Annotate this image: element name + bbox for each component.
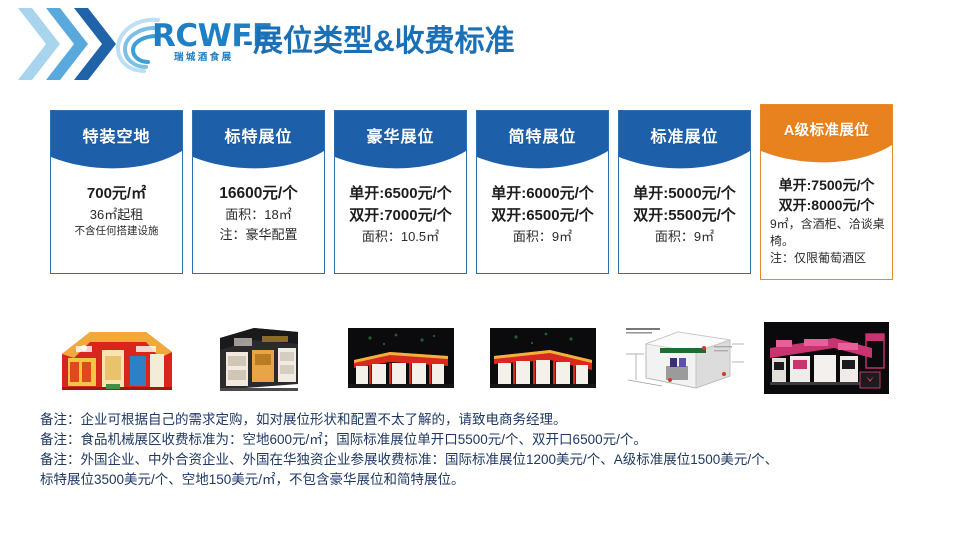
card-body: 16600元/个 面积：18㎡ 注：豪华配置	[193, 173, 324, 244]
page-title: -展位类型&收费标准	[243, 24, 515, 60]
card-body: 单开:6500元/个 双开:7000元/个 面积：10.5㎡	[335, 173, 466, 246]
pricing-card-grade-a-standard[interactable]: A级标准展位 单开:7500元/个 双开:8000元/个 9㎡，含酒柜、洽谈桌椅…	[760, 104, 893, 280]
card-price: 16600元/个	[198, 183, 319, 205]
card-title: 特装空地	[51, 123, 182, 147]
booth-photo-render-wide-right	[476, 318, 609, 398]
pricing-card-row: 特装空地 700元/㎡ 36㎡起租 不含任何搭建设施 标特展位 16600元/个…	[0, 104, 960, 284]
card-price-single: 单开:7500元/个	[766, 175, 887, 195]
brand-logo-chinese: 瑞城酒食展	[174, 53, 234, 63]
card-price-single: 单开:6500元/个	[340, 183, 461, 205]
footnote-line-2: 备注：食品机械展区收费标准为：空地600元/㎡；国际标准展位单开口5500元/个…	[40, 430, 930, 450]
card-line-2: 面积：18㎡	[198, 205, 319, 225]
card-price-single: 单开:6000元/个	[482, 183, 603, 205]
card-title: 简特展位	[477, 123, 608, 147]
card-body: 700元/㎡ 36㎡起租 不含任何搭建设施	[51, 173, 182, 240]
pricing-card-special-space[interactable]: 特装空地 700元/㎡ 36㎡起租 不含任何搭建设施	[50, 110, 183, 274]
footnote-line-3: 备注：外国企业、中外合资企业、外国在华独资企业参展收费标准：国际标准展位1200…	[40, 450, 930, 470]
booth-photo-dark-standard	[192, 318, 325, 398]
card-header: 豪华展位	[335, 111, 466, 173]
booth-photo-row	[0, 318, 960, 402]
pricing-card-simple-special[interactable]: 简特展位 单开:6000元/个 双开:6500元/个 面积：9㎡	[476, 110, 609, 274]
card-line-3: 注：仅限葡萄酒区	[766, 250, 887, 267]
card-line-2: 面积：9㎡	[624, 227, 745, 247]
card-body: 单开:6000元/个 双开:6500元/个 面积：9㎡	[477, 173, 608, 246]
card-line-3: 不含任何搭建设施	[56, 224, 177, 240]
footnote-line-4: 标特展位3500美元/个、空地150美元/㎡，不包含豪华展位和简特展位。	[40, 470, 930, 490]
card-line-2: 面积：9㎡	[482, 227, 603, 247]
footnote-block: 备注：企业可根据自己的需求定购，如对展位形状和配置不太了解的，请致电商务经理。 …	[40, 410, 930, 490]
card-title: A级标准展位	[761, 119, 892, 140]
card-line-2: 36㎡起租	[56, 205, 177, 225]
card-title: 豪华展位	[335, 123, 466, 147]
card-line-2: 9㎡，含酒柜、洽谈桌椅。	[766, 216, 887, 251]
card-price-double: 双开:7000元/个	[340, 205, 461, 227]
card-body: 单开:5000元/个 双开:5500元/个 面积：9㎡	[619, 173, 750, 246]
card-line-2: 面积：10.5㎡	[340, 227, 461, 247]
card-price: 700元/㎡	[56, 183, 177, 205]
card-body: 单开:7500元/个 双开:8000元/个 9㎡，含酒柜、洽谈桌椅。 注：仅限葡…	[761, 167, 892, 268]
booth-photo-render-wide-left	[334, 318, 467, 398]
pricing-card-standard[interactable]: 标准展位 单开:5000元/个 双开:5500元/个 面积：9㎡	[618, 110, 751, 274]
footnote-line-1: 备注：企业可根据自己的需求定购，如对展位形状和配置不太了解的，请致电商务经理。	[40, 410, 930, 430]
brand-logo: RCWFE 瑞城酒食展	[112, 8, 252, 80]
booth-photo-red-pavilion	[50, 318, 183, 398]
card-header: 特装空地	[51, 111, 182, 173]
booth-photo-magenta-standard	[760, 318, 893, 398]
card-price-single: 单开:5000元/个	[624, 183, 745, 205]
card-line-3: 注：豪华配置	[198, 225, 319, 245]
card-header: A级标准展位	[761, 105, 892, 167]
page-header: RCWFE 瑞城酒食展 -展位类型&收费标准	[0, 0, 960, 92]
card-price-double: 双开:5500元/个	[624, 205, 745, 227]
pricing-card-deluxe[interactable]: 豪华展位 单开:6500元/个 双开:7000元/个 面积：10.5㎡	[334, 110, 467, 274]
card-price-double: 双开:8000元/个	[766, 195, 887, 215]
pricing-card-premium-standard[interactable]: 标特展位 16600元/个 面积：18㎡ 注：豪华配置	[192, 110, 325, 274]
card-header: 简特展位	[477, 111, 608, 173]
card-header: 标准展位	[619, 111, 750, 173]
card-title: 标特展位	[193, 123, 324, 147]
card-header: 标特展位	[193, 111, 324, 173]
booth-photo-technical-drawing	[618, 318, 751, 398]
card-title: 标准展位	[619, 123, 750, 147]
card-price-double: 双开:6500元/个	[482, 205, 603, 227]
